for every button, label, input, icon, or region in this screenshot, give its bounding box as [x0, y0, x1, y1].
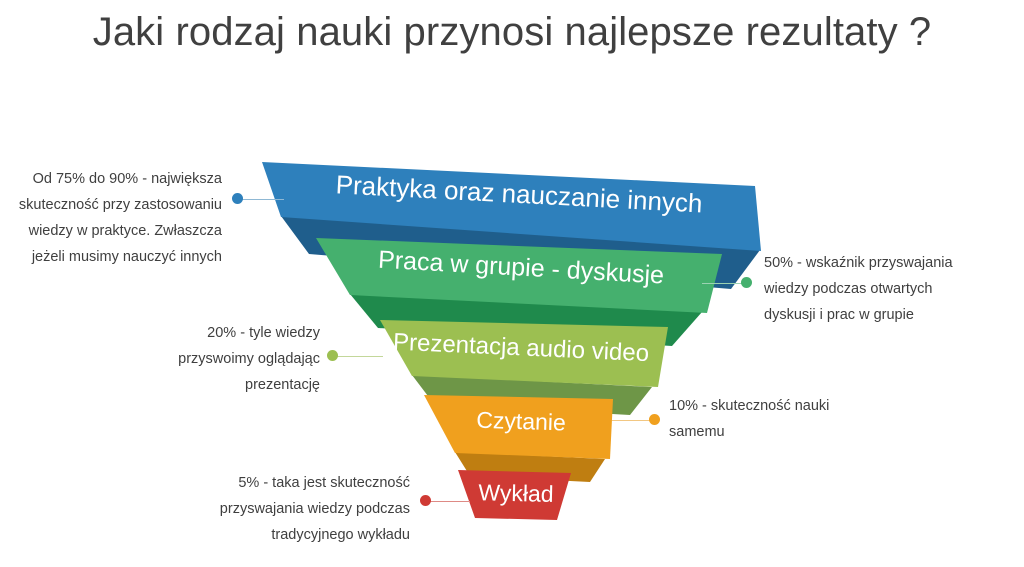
annotation-lecture-connector	[420, 495, 470, 507]
annotation-lecture-text: 5% - taka jest skuteczność przyswajania …	[180, 470, 410, 548]
annotation-group-work-text: 50% - wskaźnik przyswajania wiedzy podcz…	[764, 250, 1014, 328]
annotation-group-work-connector	[702, 277, 752, 289]
connector-dot	[232, 193, 243, 204]
annotation-reading-connector	[612, 414, 660, 426]
annotation-audio-video-text: 20% - tyle wiedzy przyswoimy oglądając p…	[120, 320, 320, 398]
funnel-band-reading[interactable]: Czytanie	[424, 395, 613, 482]
connector-dot	[649, 414, 660, 425]
connector-dot	[420, 495, 431, 506]
connector-line	[332, 356, 383, 357]
funnel-band-lecture[interactable]: Wykład	[458, 470, 571, 520]
connector-dot	[327, 350, 338, 361]
connector-dot	[741, 277, 752, 288]
annotation-practice-text: Od 75% do 90% - największa skuteczność p…	[10, 166, 222, 270]
slide-canvas: Jaki rodzaj nauki przynosi najlepsze rez…	[0, 0, 1024, 567]
annotation-practice-connector	[232, 193, 284, 205]
funnel-band-lecture-label: Wykład	[478, 479, 554, 507]
connector-line	[237, 199, 284, 200]
annotation-reading-text: 10% - skuteczność nauki samemu	[669, 393, 909, 445]
annotation-audio-video-connector	[327, 350, 383, 362]
funnel-band-reading-label: Czytanie	[476, 407, 566, 436]
connector-line	[425, 501, 470, 502]
